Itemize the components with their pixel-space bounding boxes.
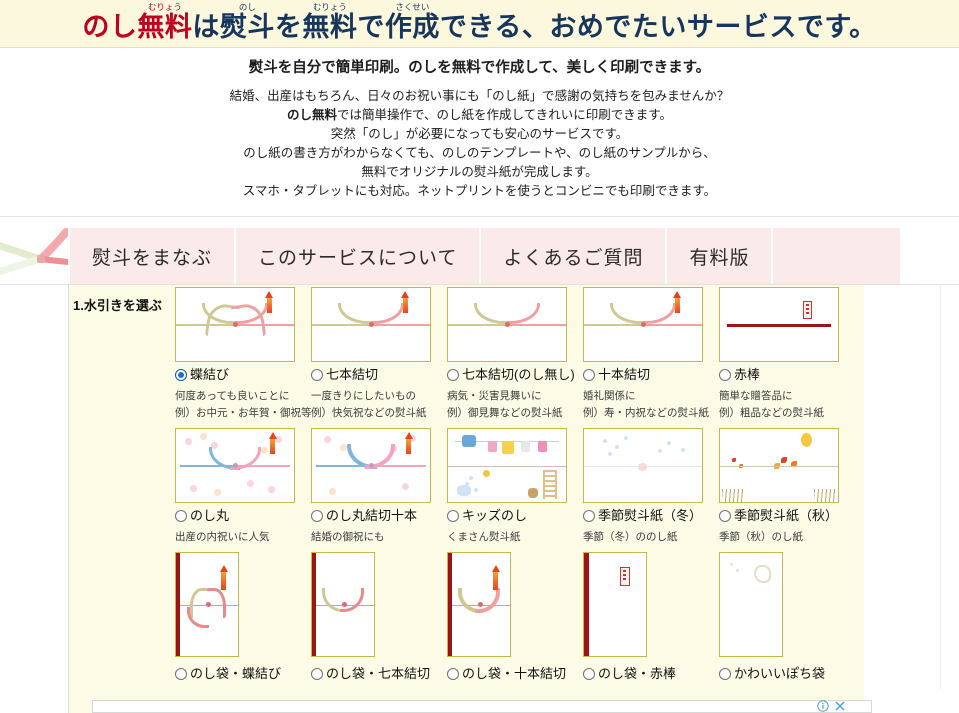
mizuhiki-selector-panel: 1.水引きを選ぶ 蝶 <box>68 285 864 689</box>
description-line-2-bold: のし無料 <box>287 108 337 122</box>
option-label: 赤棒 <box>734 368 760 381</box>
description-block: 熨斗を自分で簡単印刷。のしを無料で作成して、美しく印刷できます。 結婚、出産はも… <box>0 47 959 201</box>
option-cell-envelope-nanahon[interactable]: のし袋・七本結切 <box>311 552 447 689</box>
noshi-mark-icon <box>268 432 277 454</box>
option-desc-primary: 出産の内祝いに人気 <box>175 529 311 542</box>
radio-nanahon-musubikiri[interactable] <box>311 369 323 381</box>
option-label: 七本結切 <box>326 368 378 381</box>
noshi-thumb-envelope-akabou[interactable] <box>583 552 647 657</box>
noshi-mark-icon <box>404 432 413 454</box>
mizuhiki-option-grid: 蝶結び 何度あっても良いことに 例）お中元・お年賀・御祝等 <box>175 287 855 689</box>
thumb-wrap <box>719 552 855 664</box>
thumb-wrap <box>311 428 447 506</box>
noshi-thumb-juppon-musubikiri[interactable] <box>583 287 703 362</box>
noshi-mark-icon <box>491 565 500 590</box>
noshi-mark-icon <box>673 291 682 313</box>
nav-tab-list: 熨斗をまなぶ このサービスについて よくあるご質問 有料版 <box>68 228 773 285</box>
ad-controls <box>817 700 846 712</box>
option-winter[interactable]: 季節熨斗紙（冬） <box>583 507 719 524</box>
noshi-thumb-envelope-chomusubi[interactable] <box>175 552 239 657</box>
description-line-2: のし無料では簡単操作で、のし紙を作成してきれいに印刷できます。 <box>0 106 959 125</box>
noshi-thumb-pochi[interactable] <box>719 552 783 657</box>
description-lead: 熨斗を自分で簡単印刷。のしを無料で作成して、美しく印刷できます。 <box>0 47 959 80</box>
option-label: 季節熨斗紙（冬） <box>598 509 702 522</box>
red-stamp-icon <box>803 301 812 319</box>
option-cell-noshimaru-juppon[interactable]: のし丸結切十本 結婚の御祝にも <box>311 428 447 542</box>
tab-about-service[interactable]: このサービスについて <box>236 228 481 285</box>
option-envelope-nanahon[interactable]: のし袋・七本結切 <box>311 665 447 682</box>
info-icon[interactable] <box>817 700 829 712</box>
thumb-wrap <box>583 428 719 506</box>
option-cell-nanahon-nonoshi[interactable]: 七本結切(のし無し) 病気・災害見舞いに 例）御見舞などの熨斗紙 <box>447 287 583 418</box>
noshi-mark-icon <box>401 291 410 313</box>
option-label: 七本結切(のし無し) <box>462 368 575 381</box>
option-chomusubi[interactable]: 蝶結び <box>175 366 311 383</box>
noshi-thumb-nanahon-nonoshi[interactable] <box>447 287 567 362</box>
tab-paid-version[interactable]: 有料版 <box>667 228 773 285</box>
page-root: のし無料むりょうは熨斗のしを無料むりょうで作成さくせいできる、おめでたいサービス… <box>0 0 959 713</box>
radio-noshimaru-juppon[interactable] <box>311 510 323 522</box>
option-label: のし袋・蝶結び <box>190 667 281 680</box>
noshi-thumb-envelope-nanahon[interactable] <box>311 552 375 657</box>
option-label: のし袋・七本結切 <box>326 667 430 680</box>
noshi-mark-icon <box>219 565 228 590</box>
option-desc-example: 例）御見舞などの熨斗紙 <box>447 405 583 418</box>
noshi-thumb-kids[interactable] <box>447 428 567 503</box>
divider <box>0 216 959 217</box>
title-part-muryou2: 無料むりょう <box>302 12 357 42</box>
option-envelope-chomusubi[interactable]: のし袋・蝶結び <box>175 665 311 682</box>
thumb-wrap <box>719 287 855 365</box>
option-cell-pochi[interactable]: かわいいぽち袋 お年玉・おこづかいに <box>719 552 855 689</box>
option-noshimaru[interactable]: のし丸 <box>175 507 311 524</box>
noshi-thumb-autumn[interactable] <box>719 428 839 503</box>
thumb-wrap <box>447 428 583 506</box>
noshi-thumb-nanahon-musubikiri[interactable] <box>311 287 431 362</box>
thumb-wrap <box>311 287 447 365</box>
noshi-thumb-envelope-juppon[interactable] <box>447 552 511 657</box>
radio-envelope-juppon[interactable] <box>447 668 459 680</box>
option-cell-envelope-juppon[interactable]: のし袋・十本結切 <box>447 552 583 689</box>
option-cell-winter[interactable]: 季節熨斗紙（冬） 季節（冬）ののし紙 <box>583 428 719 542</box>
option-label: 蝶結び <box>190 368 229 381</box>
option-desc-example: 例）粗品などの熨斗紙 <box>719 405 855 418</box>
option-akabou[interactable]: 赤棒 <box>719 366 855 383</box>
red-stamp-icon <box>620 567 630 586</box>
option-row: のし袋・蝶結び 折るだけで出来るのし袋 <box>175 552 855 689</box>
option-cell-chomusubi[interactable]: 蝶結び 何度あっても良いことに 例）お中元・お年賀・御祝等 <box>175 287 311 418</box>
option-desc-primary: 婚礼関係に <box>583 388 719 401</box>
radio-kids[interactable] <box>447 510 459 522</box>
option-desc-primary: くまさん熨斗紙 <box>447 529 583 542</box>
option-juppon-musubikiri[interactable]: 十本結切 <box>583 366 719 383</box>
title-part-noshi: のし <box>82 12 137 42</box>
description-line-5: 無料でオリジナルの熨斗紙が完成します。 <box>0 163 959 182</box>
radio-akabou[interactable] <box>719 369 731 381</box>
tab-learn-noshi[interactable]: 熨斗をまなぶ <box>68 228 236 285</box>
thumb-wrap <box>175 552 311 664</box>
site-banner: のし無料むりょうは熨斗のしを無料むりょうで作成さくせいできる、おめでたいサービス… <box>0 0 959 48</box>
option-cell-envelope-chomusubi[interactable]: のし袋・蝶結び 折るだけで出来るのし袋 <box>175 552 311 689</box>
option-row: 蝶結び 何度あっても良いことに 例）お中元・お年賀・御祝等 <box>175 287 855 418</box>
title-part-de: で <box>357 12 385 42</box>
thumb-wrap <box>175 287 311 365</box>
option-label: 季節熨斗紙（秋） <box>734 509 838 522</box>
thumb-wrap <box>311 552 447 664</box>
option-desc-primary: 病気・災害見舞いに <box>447 388 583 401</box>
option-desc-example: 例）寿・内祝などの熨斗紙 <box>583 405 719 418</box>
description-line-4: のし紙の書き方がわからなくても、のしのテンプレートや、のし紙のサンプルから、 <box>0 144 959 163</box>
thumb-wrap <box>447 552 583 664</box>
option-label: のし丸結切十本 <box>326 509 417 522</box>
description-lines: 結婚、出産はもちろん、日々のお祝い事にも「のし紙」で感謝の気持ちを包みませんか？… <box>0 80 959 201</box>
description-line-1: 結婚、出産はもちろん、日々のお祝い事にも「のし紙」で感謝の気持ちを包みませんか？ <box>0 87 959 106</box>
option-cell-autumn[interactable]: 季節熨斗紙（秋） 季節（秋）のし紙 <box>719 428 855 542</box>
noshi-mark-icon <box>265 291 274 313</box>
title-part-tail: できる、おめでたいサービスです。 <box>440 12 877 42</box>
title-part-muryou1: 無料むりょう <box>137 12 192 42</box>
noshi-thumb-noshimaru-juppon[interactable] <box>311 428 431 503</box>
noshi-thumb-chomusubi[interactable] <box>175 287 295 362</box>
radio-envelope-chomusubi[interactable] <box>175 668 187 680</box>
option-autumn[interactable]: 季節熨斗紙（秋） <box>719 507 855 524</box>
option-label: のし袋・十本結切 <box>462 667 566 680</box>
thumb-wrap <box>175 428 311 506</box>
thumb-wrap <box>719 428 855 506</box>
step-title: 1.水引きを選ぶ <box>73 295 162 314</box>
radio-pochi[interactable] <box>719 668 731 680</box>
option-envelope-akabou[interactable]: のし袋・赤棒 <box>583 665 719 682</box>
description-line-2-rest: では簡単操作で、のし紙を作成してきれいに印刷できます。 <box>337 108 672 122</box>
title-part-wa: は <box>192 12 220 42</box>
noshi-thumb-akabou[interactable] <box>719 287 839 362</box>
radio-envelope-akabou[interactable] <box>583 668 595 680</box>
main-nav: 熨斗をまなぶ このサービスについて よくあるご質問 有料版 <box>0 228 959 285</box>
ad-container[interactable] <box>92 700 872 713</box>
noshi-thumb-noshimaru[interactable] <box>175 428 295 503</box>
option-label: かわいいぽち袋 <box>734 667 825 680</box>
thumb-wrap <box>447 287 583 365</box>
option-cell-nanahon-musubikiri[interactable]: 七本結切 一度きりにしたいもの 例）快気祝などの熨斗紙 <box>311 287 447 418</box>
option-desc-primary: 簡単な贈答品に <box>719 388 855 401</box>
option-label: 十本結切 <box>598 368 650 381</box>
option-cell-juppon-musubikiri[interactable]: 十本結切 婚礼関係に 例）寿・内祝などの熨斗紙 <box>583 287 719 418</box>
description-line-3: 突然「のし」が必要になっても安心のサービスです。 <box>0 125 959 144</box>
option-nanahon-musubikiri[interactable]: 七本結切 <box>311 366 447 383</box>
radio-juppon-musubikiri[interactable] <box>583 369 595 381</box>
option-desc-example: 例）お中元・お年賀・御祝等 <box>175 405 311 418</box>
noshi-thumb-winter[interactable] <box>583 428 703 503</box>
option-nanahon-nonoshi[interactable]: 七本結切(のし無し) <box>447 366 583 383</box>
option-row: のし丸 出産の内祝いに人気 <box>175 428 855 542</box>
thumb-wrap <box>583 287 719 365</box>
panel-right-gutter <box>863 285 941 689</box>
option-envelope-juppon[interactable]: のし袋・十本結切 <box>447 665 583 682</box>
title-part-noshi-kanji: 熨斗のし <box>220 12 275 42</box>
option-label: のし袋・赤棒 <box>598 667 676 680</box>
page-title: のし無料むりょうは熨斗のしを無料むりょうで作成さくせいできる、おめでたいサービス… <box>82 2 876 47</box>
option-desc-primary: 一度きりにしたいもの <box>311 388 447 401</box>
option-desc-primary: 季節（冬）ののし紙 <box>583 529 719 542</box>
mizuhiki-bow-icon <box>0 228 68 285</box>
radio-autumn[interactable] <box>719 510 731 522</box>
option-kids[interactable]: キッズのし <box>447 507 583 524</box>
option-desc-primary: 何度あっても良いことに <box>175 388 311 401</box>
radio-envelope-nanahon[interactable] <box>311 668 323 680</box>
option-desc-primary: 結婚の御祝にも <box>311 529 447 542</box>
title-part-wo: を <box>275 12 303 42</box>
page-right-edge <box>940 285 959 689</box>
option-cell-noshimaru[interactable]: のし丸 出産の内祝いに人気 <box>175 428 311 542</box>
option-pochi[interactable]: かわいいぽち袋 <box>719 665 855 682</box>
close-icon[interactable] <box>834 700 846 712</box>
option-cell-envelope-akabou[interactable]: のし袋・赤棒 <box>583 552 719 689</box>
option-cell-akabou[interactable]: 赤棒 簡単な贈答品に 例）粗品などの熨斗紙 <box>719 287 855 418</box>
option-label: のし丸 <box>190 509 229 522</box>
radio-noshimaru[interactable] <box>175 510 187 522</box>
tab-faq[interactable]: よくあるご質問 <box>481 228 667 285</box>
option-noshimaru-juppon[interactable]: のし丸結切十本 <box>311 507 447 524</box>
description-line-6: スマホ・タブレットにも対応。ネットプリントを使うとコンビニでも印刷できます。 <box>0 182 959 201</box>
option-desc-example: 例）快気祝などの熨斗紙 <box>311 405 447 418</box>
title-part-sakusei: 作成さくせい <box>385 12 440 42</box>
radio-nanahon-nonoshi[interactable] <box>447 369 459 381</box>
radio-winter[interactable] <box>583 510 595 522</box>
radio-chomusubi[interactable] <box>175 369 187 381</box>
option-desc-primary: 季節（秋）のし紙 <box>719 529 855 542</box>
option-label: キッズのし <box>462 509 527 522</box>
option-cell-kids[interactable]: キッズのし くまさん熨斗紙 <box>447 428 583 542</box>
thumb-wrap <box>583 552 719 664</box>
